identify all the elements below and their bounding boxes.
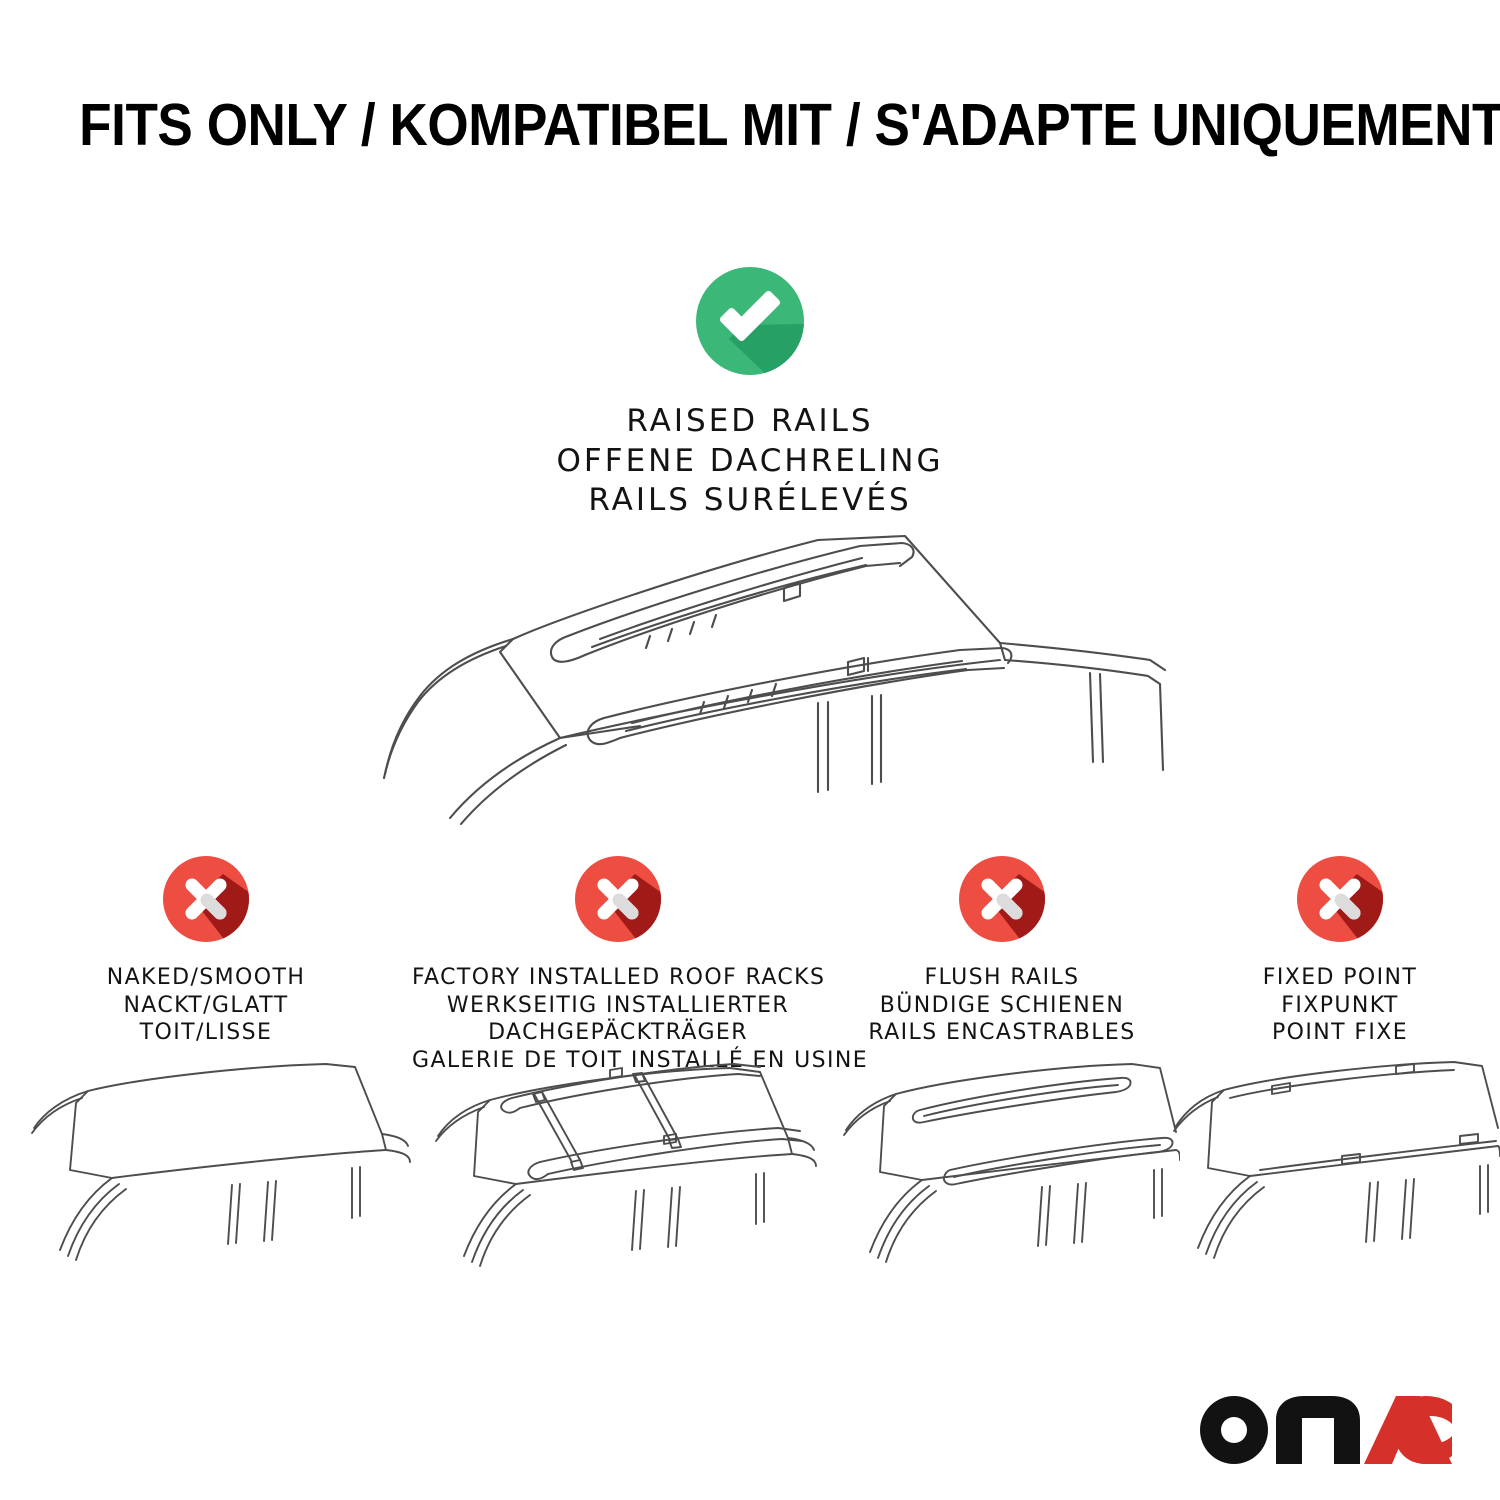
omac-logo <box>1192 1390 1452 1470</box>
omac-logo-m <box>1276 1396 1360 1464</box>
label-de-2: DACHGEPÄCKTRÄGER <box>412 1019 824 1047</box>
car-roof-factory-racks-drawing <box>412 1058 824 1298</box>
car-roof-raised-rails-drawing <box>0 500 1500 830</box>
incompatible-item-factory-racks: FACTORY INSTALLED ROOF RACKS WERKSEITIG … <box>412 852 824 1075</box>
label-de-1: WERKSEITIG INSTALLIERTER <box>412 992 824 1020</box>
car-roof-naked-smooth-drawing <box>0 1058 412 1298</box>
compatible-label-de: OFFENE DACHRELING <box>0 442 1500 482</box>
label-de: NACKT/GLATT <box>0 992 412 1020</box>
compatible-section: RAISED RAILS OFFENE DACHRELING RAILS SUR… <box>0 262 1500 521</box>
incompatible-item-naked-smooth: NAKED/SMOOTH NACKT/GLATT TOIT/LISSE <box>0 852 412 1047</box>
label-fr: POINT FIXE <box>1180 1019 1500 1047</box>
incompatible-labels: FLUSH RAILS BÜNDIGE SCHIENEN RAILS ENCAS… <box>824 964 1180 1047</box>
label-fr: TOIT/LISSE <box>0 1019 412 1047</box>
compatible-labels: RAISED RAILS OFFENE DACHRELING RAILS SUR… <box>0 402 1500 521</box>
incompatible-item-flush-rails: FLUSH RAILS BÜNDIGE SCHIENEN RAILS ENCAS… <box>824 852 1180 1047</box>
incompatible-sections: NAKED/SMOOTH NACKT/GLATT TOIT/LISSE <box>0 852 1500 1075</box>
page-title-text: FITS ONLY / KOMPATIBEL MIT / S'ADAPTE UN… <box>79 96 1500 155</box>
page-title: FITS ONLY / KOMPATIBEL MIT / S'ADAPTE UN… <box>0 96 1500 155</box>
compatible-label-en: RAISED RAILS <box>0 402 1500 442</box>
omac-logo-o <box>1200 1396 1268 1464</box>
incompatible-labels: FIXED POINT FIXPUNKT POINT FIXE <box>1180 964 1500 1047</box>
car-roof-flush-rails-drawing <box>824 1058 1180 1298</box>
label-fr: GALERIE DE TOIT INSTALLÉ EN USINE <box>412 1047 824 1075</box>
incompatible-labels: FACTORY INSTALLED ROOF RACKS WERKSEITIG … <box>412 964 824 1075</box>
label-de: FIXPUNKT <box>1180 992 1500 1020</box>
check-circle-icon <box>691 262 809 380</box>
incompatible-item-fixed-point: FIXED POINT FIXPUNKT POINT FIXE <box>1180 852 1500 1047</box>
label-en: FIXED POINT <box>1180 964 1500 992</box>
car-roof-fixed-point-drawing <box>1164 1058 1500 1298</box>
label-de: BÜNDIGE SCHIENEN <box>824 992 1180 1020</box>
x-circle-icon <box>159 852 253 946</box>
label-en: FLUSH RAILS <box>824 964 1180 992</box>
x-circle-icon <box>1293 852 1387 946</box>
incompatible-labels: NAKED/SMOOTH NACKT/GLATT TOIT/LISSE <box>0 964 412 1047</box>
x-circle-icon <box>571 852 665 946</box>
x-circle-icon <box>955 852 1049 946</box>
compatible-label-fr: RAILS SURÉLEVÉS <box>0 481 1500 521</box>
label-fr: RAILS ENCASTRABLES <box>824 1019 1180 1047</box>
label-en: NAKED/SMOOTH <box>0 964 412 992</box>
label-en: FACTORY INSTALLED ROOF RACKS <box>412 964 824 992</box>
